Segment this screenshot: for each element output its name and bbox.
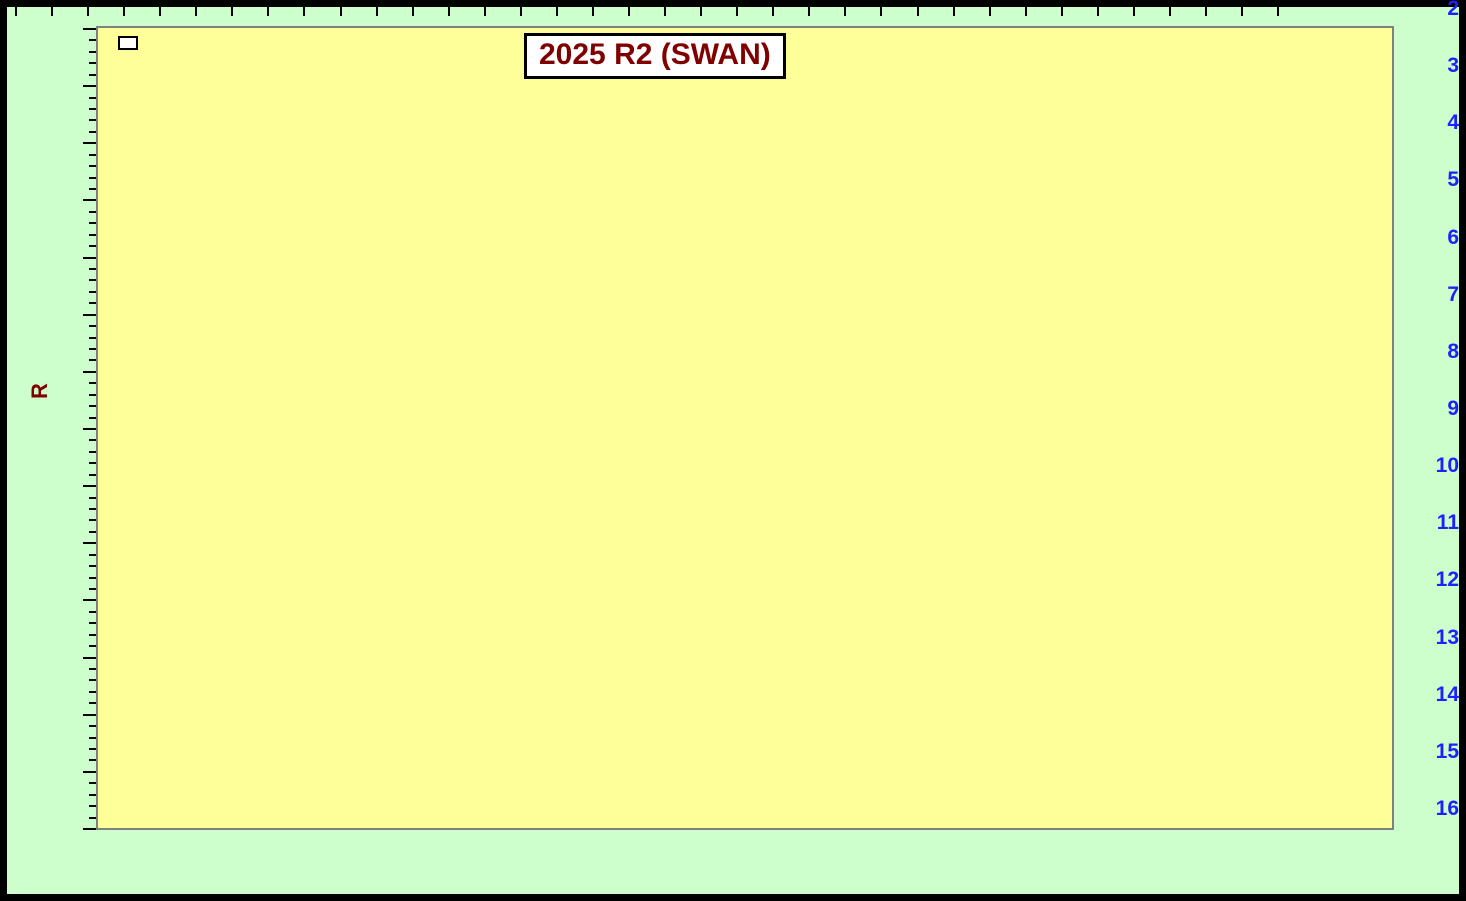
y-axis-major-tick [83,371,96,373]
y-axis-major-tick [83,599,96,601]
legend [118,36,138,50]
y-axis-minor-tick [89,348,96,350]
figure-canvas: R 2345678910111213141516 2025 R2 (SWAN) [7,7,1459,894]
y-axis-minor-tick [89,188,96,190]
y-axis-minor-tick [89,782,96,784]
y-axis-minor-tick [89,417,96,419]
y-axis-minor-tick [89,74,96,76]
x-axis-tick [556,7,558,16]
y-axis-major-tick [83,714,96,716]
y-axis-minor-tick [89,291,96,293]
x-axis-tick [1097,7,1099,16]
y-axis-minor-tick [89,531,96,533]
x-axis-tick [880,7,882,16]
y-axis-minor-tick [89,645,96,647]
x-axis-tick [953,7,955,16]
y-axis-minor-tick [89,405,96,407]
y-axis-minor-tick [89,439,96,441]
y-axis-major-tick [83,485,96,487]
x-axis-tick [700,7,702,16]
x-axis-tick [1241,7,1243,16]
y-axis-tick-label: 3 [1447,54,1459,78]
y-axis-minor-tick [89,554,96,556]
x-axis-tick [484,7,486,16]
x-axis-tick [51,7,53,16]
y-axis-minor-tick [89,39,96,41]
y-axis-major-tick [83,828,96,830]
x-axis-tick [917,7,919,16]
x-axis-tick [808,7,810,16]
y-axis-major-tick [83,28,96,30]
y-axis-minor-tick [89,611,96,613]
y-axis-minor-tick [89,165,96,167]
y-axis-major-tick [83,771,96,773]
y-axis-minor-tick [89,119,96,121]
y-axis-minor-tick [89,508,96,510]
y-axis-tick-label: 10 [1436,454,1459,478]
y-axis-minor-tick [89,748,96,750]
y-axis-minor-tick [89,759,96,761]
y-axis-tick-label: 12 [1436,568,1459,592]
y-axis-major-tick [83,257,96,259]
y-axis-minor-tick [89,325,96,327]
y-axis-minor-tick [89,474,96,476]
y-axis-major-tick [83,199,96,201]
y-axis [82,26,96,830]
x-axis-tick [303,7,305,16]
y-axis-tick-label: 5 [1447,168,1459,192]
x-axis-tick [592,7,594,16]
y-axis-major-tick [83,542,96,544]
y-axis-tick-labels: 2345678910111213141516 [7,7,59,811]
x-axis-tick [736,7,738,16]
x-axis-tick [628,7,630,16]
y-axis-minor-tick [89,497,96,499]
y-axis-label: R [27,383,53,399]
y-axis-minor-tick [89,337,96,339]
y-axis-minor-tick [89,622,96,624]
x-axis-tick [772,7,774,16]
x-axis-tick [340,7,342,16]
y-axis-minor-tick [89,691,96,693]
x-axis-tick [15,7,17,16]
y-axis-tick-label: 11 [1437,511,1459,535]
x-axis-tick [1025,7,1027,16]
y-axis-minor-tick [89,794,96,796]
x-axis-tick [87,7,89,16]
x-axis-tick [412,7,414,16]
y-axis-tick-label: 14 [1436,683,1459,707]
y-axis-minor-tick [89,131,96,133]
y-axis-minor-tick [89,462,96,464]
y-axis-minor-tick [89,565,96,567]
x-axis-tick [1061,7,1063,16]
x-axis-tick [520,7,522,16]
x-axis-tick [1277,7,1279,16]
y-axis-minor-tick [89,451,96,453]
y-axis-major-tick [83,85,96,87]
y-axis-minor-tick [89,577,96,579]
y-axis-minor-tick [89,519,96,521]
y-axis-tick-label: 6 [1447,226,1459,250]
y-axis-minor-tick [89,279,96,281]
y-axis-tick-label: 4 [1447,111,1459,135]
x-axis-tick [1133,7,1135,16]
x-axis-tick [1205,7,1207,16]
y-axis-tick-label: 8 [1447,340,1459,364]
data-points-layer [98,28,1392,828]
y-axis-minor-tick [89,394,96,396]
y-axis-minor-tick [89,737,96,739]
y-axis-minor-tick [89,211,96,213]
y-axis-tick-label: 13 [1436,626,1459,650]
x-axis-tick [664,7,666,16]
chart-title: 2025 R2 (SWAN) [524,33,786,79]
y-axis-major-tick [83,142,96,144]
x-axis-tick [1169,7,1171,16]
y-axis-tick-label: 9 [1447,397,1459,421]
x-axis-tick [376,7,378,16]
x-axis-tick [989,7,991,16]
y-axis-tick-label: 7 [1447,283,1459,307]
y-axis-tick-label: 16 [1436,797,1459,821]
y-axis-tick-label: 2 [1447,0,1459,21]
y-axis-minor-tick [89,234,96,236]
y-axis-minor-tick [89,51,96,53]
y-axis-major-tick [83,657,96,659]
x-axis-tick [123,7,125,16]
y-axis-minor-tick [89,222,96,224]
y-axis-minor-tick [89,154,96,156]
y-axis-minor-tick [89,382,96,384]
y-axis-major-tick [83,428,96,430]
x-axis-tick [231,7,233,16]
x-axis-tick [195,7,197,16]
y-axis-minor-tick [89,725,96,727]
y-axis-minor-tick [89,668,96,670]
plot-area [96,26,1394,830]
y-axis-minor-tick [89,245,96,247]
y-axis-minor-tick [89,702,96,704]
y-axis-minor-tick [89,359,96,361]
y-axis-minor-tick [89,177,96,179]
y-axis-minor-tick [89,588,96,590]
y-axis-minor-tick [89,805,96,807]
y-axis-minor-tick [89,817,96,819]
y-axis-minor-tick [89,302,96,304]
x-axis-tick [267,7,269,16]
x-axis-tick [448,7,450,16]
y-axis-minor-tick [89,108,96,110]
x-axis-tick [844,7,846,16]
x-axis-tick [159,7,161,16]
y-axis-tick-label: 15 [1436,740,1459,764]
y-axis-minor-tick [89,268,96,270]
y-axis-minor-tick [89,62,96,64]
y-axis-minor-tick [89,634,96,636]
y-axis-minor-tick [89,679,96,681]
y-axis-minor-tick [89,97,96,99]
y-axis-major-tick [83,314,96,316]
